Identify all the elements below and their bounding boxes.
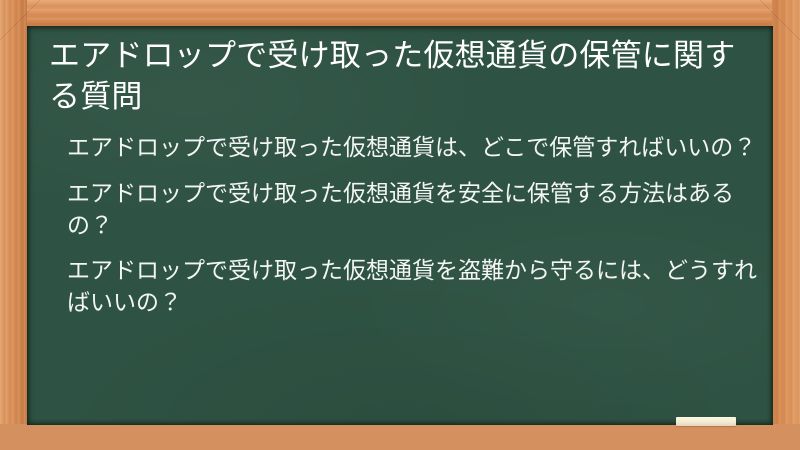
chalk-stick-icon — [676, 417, 736, 426]
chalkboard-content: エアドロップで受け取った仮想通貨の保管に関する質問 エアドロップで受け取った仮想… — [27, 26, 773, 319]
frame-rail-left — [0, 0, 27, 450]
chalkboard-slide: エアドロップで受け取った仮想通貨の保管に関する質問 エアドロップで受け取った仮想… — [0, 0, 800, 450]
frame-rail-top — [0, 0, 800, 26]
question-list: エアドロップで受け取った仮想通貨は、どこで保管すればいいの？ エアドロップで受け… — [43, 132, 757, 319]
question-item-1: エアドロップで受け取った仮想通貨は、どこで保管すればいいの？ — [67, 132, 757, 164]
question-item-2: エアドロップで受け取った仮想通貨を安全に保管する方法はあるの？ — [67, 178, 757, 242]
frame-rail-right — [772, 0, 800, 450]
question-item-3: エアドロップで受け取った仮想通貨を盗難から守るには、どうすればいいの？ — [67, 255, 757, 319]
frame-ledge-bottom — [0, 424, 800, 450]
slide-title: エアドロップで受け取った仮想通貨の保管に関する質問 — [43, 32, 749, 118]
chalkboard-surface: エアドロップで受け取った仮想通貨の保管に関する質問 エアドロップで受け取った仮想… — [27, 26, 773, 425]
